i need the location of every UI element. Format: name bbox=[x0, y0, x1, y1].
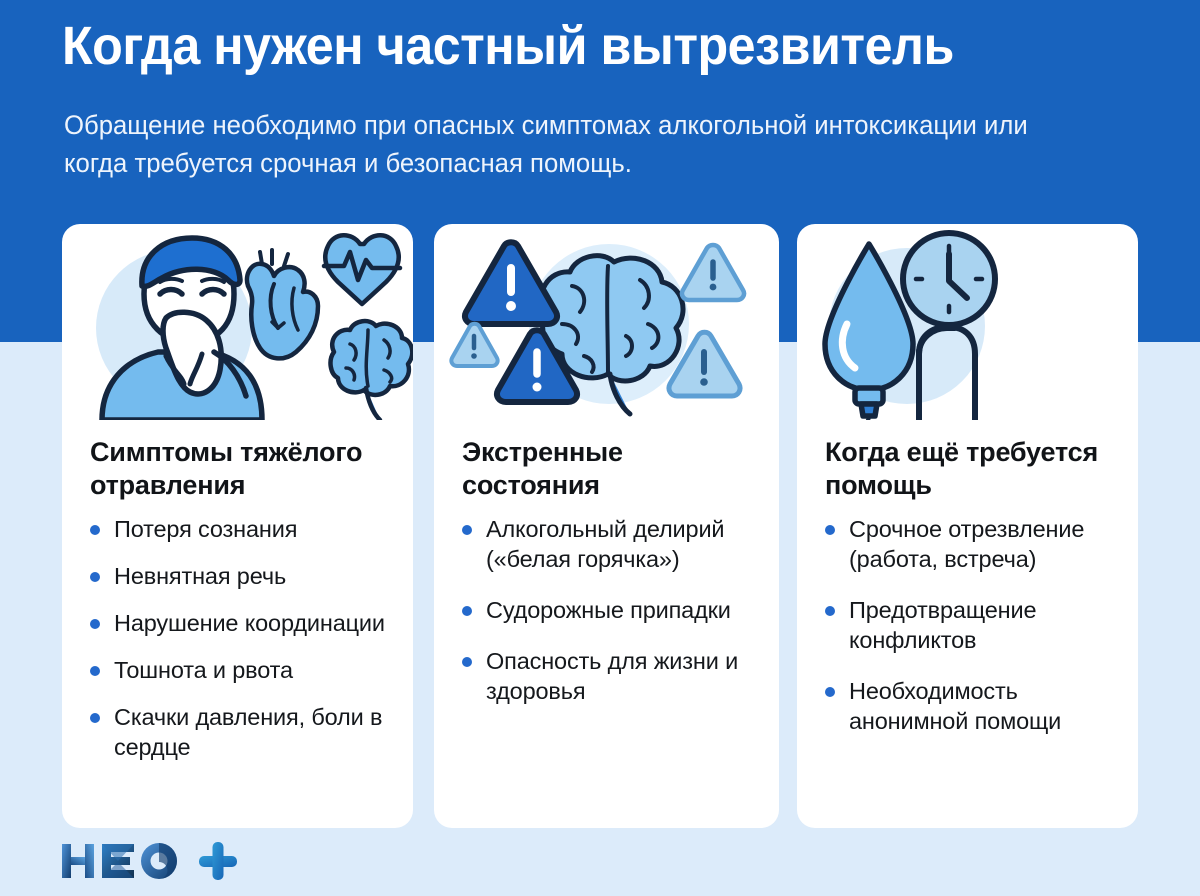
list-item: Алкогольный делирий («белая горячка») bbox=[462, 515, 765, 575]
card-emergency-illustration bbox=[434, 224, 779, 420]
list-item: Предотвращение конфликтов bbox=[825, 596, 1124, 656]
list-item: Тошнота и рвота bbox=[90, 656, 399, 686]
card-other-help: Когда ещё требуется помощь Срочное отрез… bbox=[797, 224, 1138, 828]
header-right-extension bbox=[1138, 0, 1200, 342]
list-item: Нарушение координации bbox=[90, 609, 399, 639]
card-symptoms: Симптомы тяжёлого отравления Потеря созн… bbox=[62, 224, 413, 828]
list-item: Невнятная речь bbox=[90, 562, 399, 592]
card-emergency-list: Алкогольный делирий («белая горячка») Су… bbox=[434, 515, 779, 706]
brain-icon bbox=[331, 321, 413, 420]
logo-letter-o bbox=[141, 843, 177, 879]
card-other-help-list: Срочное отрезвление (работа, встреча) Пр… bbox=[797, 515, 1138, 736]
card-emergency: Экстренные состояния Алкогольный делирий… bbox=[434, 224, 779, 828]
list-item: Судорожные припадки bbox=[462, 596, 765, 626]
card-symptoms-title: Симптомы тяжёлого отравления bbox=[62, 436, 413, 501]
infographic-page: Когда нужен частный вытрезвитель Обращен… bbox=[0, 0, 1200, 896]
logo-plus-icon bbox=[199, 842, 237, 880]
card-emergency-title: Экстренные состояния bbox=[434, 436, 779, 501]
card-other-help-title: Когда ещё требуется помощь bbox=[797, 436, 1138, 501]
list-item: Потеря сознания bbox=[90, 515, 399, 545]
neo-plus-logo bbox=[60, 840, 240, 882]
logo-letter-n bbox=[62, 844, 94, 878]
list-item: Необходимость анонимной помощи bbox=[825, 677, 1124, 737]
list-item: Опасность для жизни и здоровья bbox=[462, 647, 765, 707]
warning-triangle-icon bbox=[682, 245, 744, 300]
anatomical-heart-icon bbox=[247, 250, 318, 358]
logo-letter-e bbox=[102, 844, 134, 878]
warning-triangle-icon bbox=[451, 324, 497, 366]
heart-ecg-icon bbox=[324, 235, 400, 304]
card-symptoms-illustration bbox=[62, 224, 413, 420]
page-subtitle: Обращение необходимо при опасных симптом… bbox=[64, 106, 1063, 183]
card-symptoms-list: Потеря сознания Невнятная речь Нарушение… bbox=[62, 515, 413, 762]
card-other-help-illustration bbox=[797, 224, 1138, 420]
list-item: Срочное отрезвление (работа, встреча) bbox=[825, 515, 1124, 575]
list-item: Скачки давления, боли в сердце bbox=[90, 703, 399, 763]
page-title: Когда нужен частный вытрезвитель bbox=[62, 18, 1076, 75]
clock-icon bbox=[903, 233, 995, 325]
